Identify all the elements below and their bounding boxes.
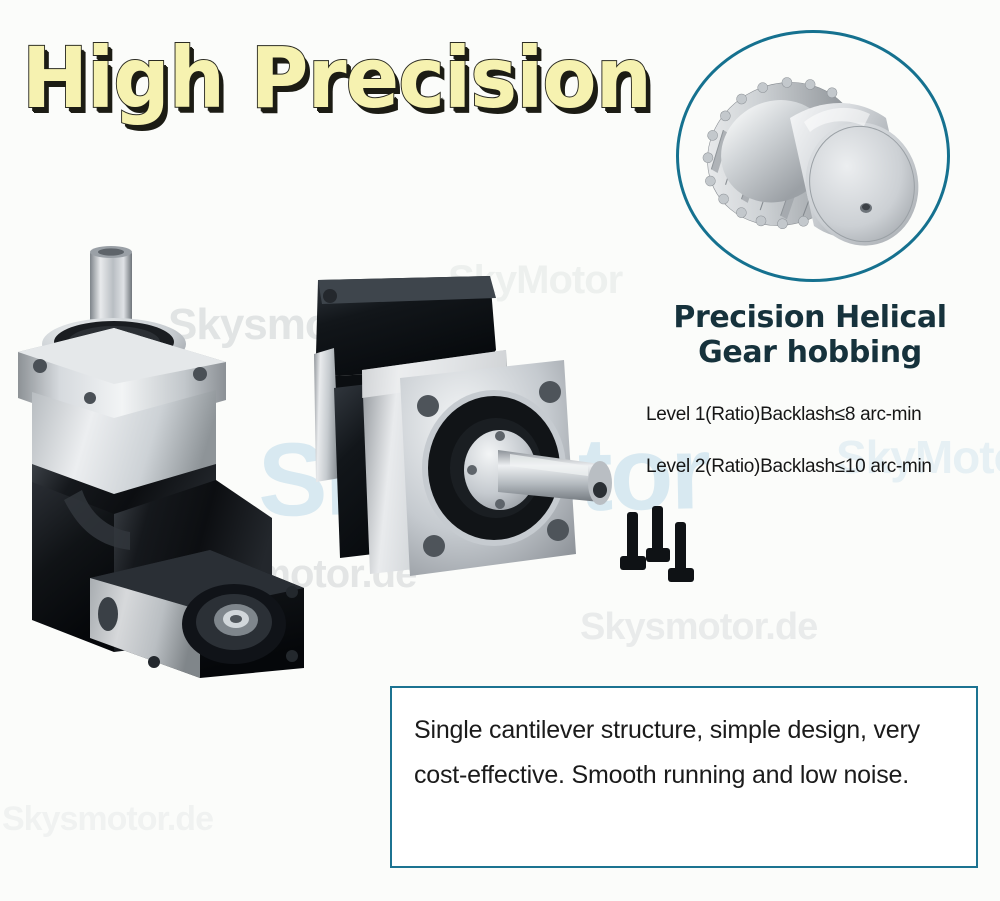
feature-headline: Precision Helical Gear hobbing [620, 300, 1000, 370]
product-image-gearbox-shaft-front [300, 258, 640, 658]
description-box: Single cantilever structure, simple desi… [390, 686, 978, 868]
watermark-domain: Skysmotor.de [2, 800, 213, 839]
gear-feature-illustration [672, 26, 956, 288]
spec-backlash-level-1: Level 1(Ratio)Backlash≤8 arc-min [646, 404, 921, 426]
product-image-mounting-bolts [614, 498, 706, 600]
page-title: High Precision [22, 28, 642, 128]
spec-backlash-level-2: Level 2(Ratio)Backlash≤10 arc-min [646, 456, 932, 478]
marketing-banner: SkyMotor Skysmotor.de SkyMotor SkyMotor … [0, 0, 1000, 901]
feature-headline-line-2: Gear hobbing [620, 335, 1000, 370]
gear-circle-outline [676, 30, 950, 282]
description-text: Single cantilever structure, simple desi… [414, 708, 962, 798]
product-image-gearbox-shaft-up [4, 232, 334, 682]
feature-headline-line-1: Precision Helical [620, 300, 1000, 335]
page-title-text: High Precision [22, 28, 605, 128]
